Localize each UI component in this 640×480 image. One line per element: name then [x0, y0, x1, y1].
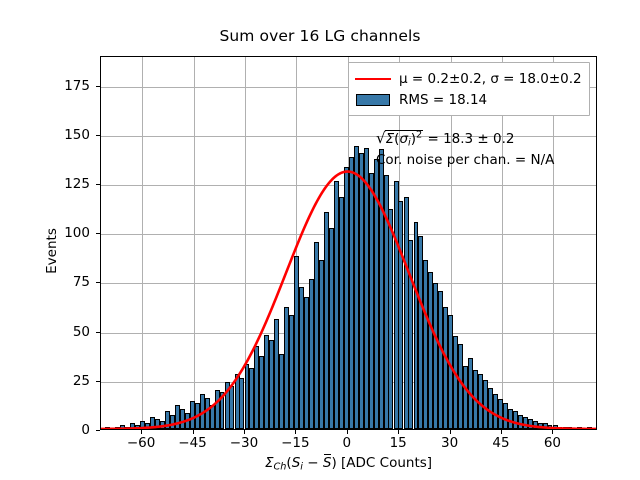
legend: μ = 0.2±0.2, σ = 18.0±0.2 RMS = 18.14: [348, 62, 590, 116]
x-tick-label: 45: [492, 435, 509, 451]
y-tick-label: 150: [30, 127, 90, 143]
x-tick-label: 30: [441, 435, 458, 451]
y-tick-mark: [96, 86, 100, 87]
y-tick-mark: [96, 430, 100, 431]
x-tick-mark: [244, 430, 245, 434]
y-tick-label: 25: [30, 373, 90, 389]
x-tick-label: 60: [544, 435, 561, 451]
y-tick-mark: [96, 381, 100, 382]
x-axis-label: ΣCh(Si − S) [ADC Counts]: [100, 455, 597, 473]
legend-item-fit: μ = 0.2±0.2, σ = 18.0±0.2: [355, 68, 582, 89]
annotation-line-cor-noise: Cor. noise per chan. = N/A: [376, 151, 554, 170]
x-tick-label: −30: [230, 435, 259, 451]
x-tick-mark: [141, 430, 142, 434]
x-tick-mark: [398, 430, 399, 434]
y-axis-label: Events: [44, 191, 60, 311]
x-tick-label: −60: [127, 435, 156, 451]
x-tick-label: 0: [342, 435, 351, 451]
x-tick-mark: [193, 430, 194, 434]
y-tick-mark: [96, 184, 100, 185]
y-tick-label: 175: [30, 78, 90, 94]
x-tick-label: 15: [390, 435, 407, 451]
y-tick-mark: [96, 282, 100, 283]
legend-label-fit: μ = 0.2±0.2, σ = 18.0±0.2: [399, 71, 582, 87]
y-tick-label: 100: [30, 225, 90, 241]
annotation-quad-sum-value: = 18.3 ± 0.2: [427, 131, 514, 147]
x-tick-mark: [501, 430, 502, 434]
y-tick-mark: [96, 233, 100, 234]
y-tick-label: 125: [30, 176, 90, 192]
y-tick-label: 0: [30, 422, 90, 438]
legend-patch-swatch: [355, 92, 391, 108]
legend-item-histogram: RMS = 18.14: [355, 89, 582, 110]
y-tick-label: 50: [30, 324, 90, 340]
legend-line-swatch: [355, 71, 391, 87]
x-tick-label: −45: [178, 435, 207, 451]
figure-canvas: Sum over 16 LG channels −60−45−30−150153…: [0, 0, 640, 480]
x-tick-mark: [295, 430, 296, 434]
y-tick-mark: [96, 332, 100, 333]
x-tick-mark: [552, 430, 553, 434]
legend-label-histogram: RMS = 18.14: [399, 92, 487, 108]
x-tick-label: −15: [281, 435, 310, 451]
x-tick-mark: [450, 430, 451, 434]
page-title: Sum over 16 LG channels: [0, 27, 640, 45]
annotation-line-quad-sum: √Σ(σi)2 = 18.3 ± 0.2: [376, 128, 554, 151]
y-tick-label: 75: [30, 274, 90, 290]
statistics-annotation: √Σ(σi)2 = 18.3 ± 0.2 Cor. noise per chan…: [376, 128, 554, 170]
x-tick-mark: [347, 430, 348, 434]
y-tick-mark: [96, 135, 100, 136]
